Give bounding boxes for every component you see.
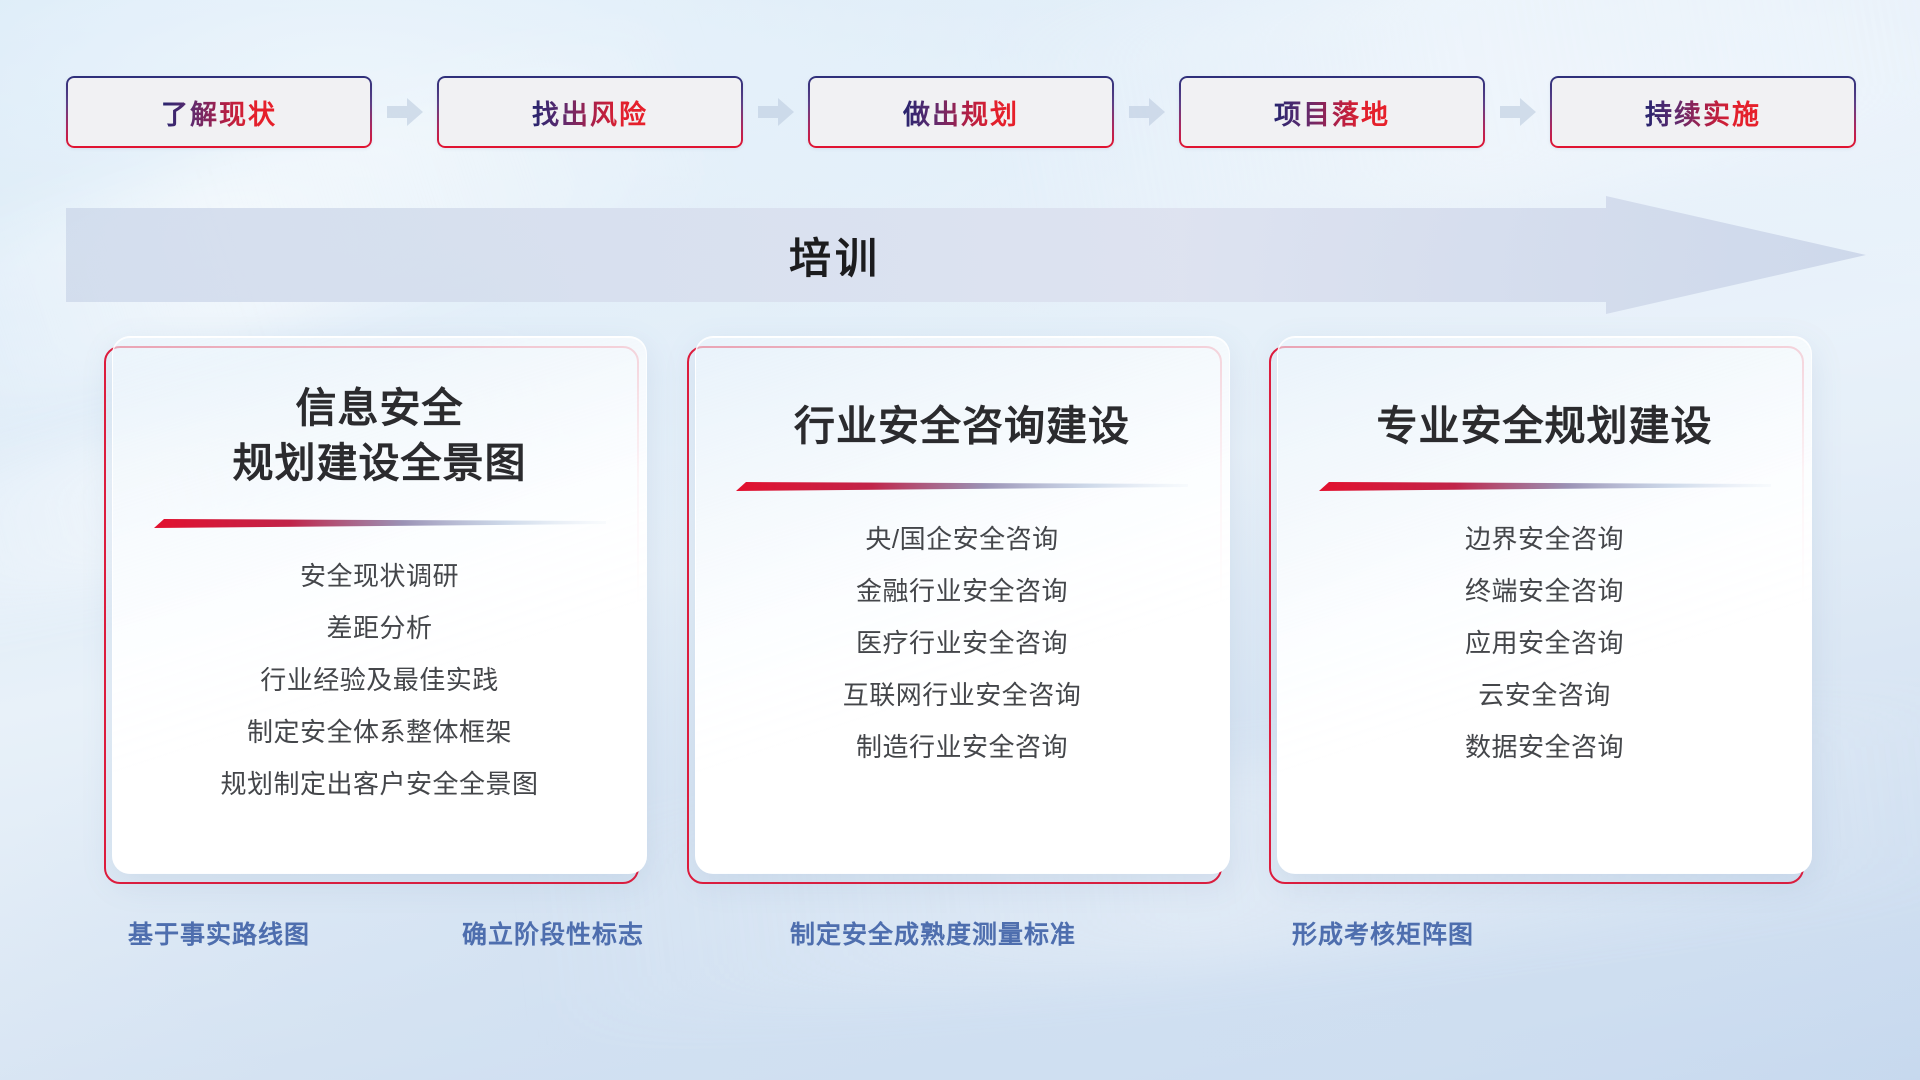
list-item: 医疗行业安全咨询 [856,618,1068,668]
list-item: 数据安全咨询 [1465,722,1624,772]
step-label: 持续实施 [1645,93,1761,132]
footer-label-3: 制定安全成熟度测量标准 [790,915,1076,951]
step-box[interactable]: 持续实施 [1550,76,1856,148]
list-item: 边界安全咨询 [1465,514,1624,564]
list-item: 安全现状调研 [300,551,459,601]
card-slot-2: 行业安全咨询建设 [695,336,1230,874]
list-item: 云安全咨询 [1478,670,1611,720]
card-item-list: 央/国企安全咨询 金融行业安全咨询 医疗行业安全咨询 互联网行业安全咨询 制造行… [696,514,1229,772]
card-item-list: 安全现状调研 差距分析 行业经验及最佳实践 制定安全体系整体框架 规划制定出客户… [113,551,646,809]
card-item-list: 边界安全咨询 终端安全咨询 应用安全咨询 云安全咨询 数据安全咨询 [1278,514,1811,772]
training-banner: 培训 [66,196,1866,314]
card-slot-3: 专业安全规划建设 [1277,336,1812,874]
arrow-right-icon [1500,97,1536,127]
card-divider [1319,480,1771,492]
card-title: 行业安全咨询建设 [794,399,1130,454]
card-divider [736,480,1188,492]
list-item: 终端安全咨询 [1465,566,1624,616]
step-box[interactable]: 了解现状 [66,76,372,148]
card-divider [154,517,606,529]
service-card-3[interactable]: 专业安全规划建设 [1277,336,1812,874]
step-label: 了解现状 [161,93,277,132]
footer-label-4: 形成考核矩阵图 [1292,915,1474,951]
process-step-2[interactable]: 找出风险 [437,76,743,148]
list-item: 规划制定出客户安全全景图 [220,759,538,809]
list-item: 应用安全咨询 [1465,618,1624,668]
footer-label-row: 基于事实路线图 确立阶段性标志 制定安全成熟度测量标准 形成考核矩阵图 [0,915,1920,961]
step-box[interactable]: 项目落地 [1179,76,1485,148]
card-title: 专业安全规划建设 [1377,399,1713,454]
footer-label-2: 确立阶段性标志 [462,915,644,951]
service-card-2[interactable]: 行业安全咨询建设 [695,336,1230,874]
card-row: 信息安全 规划建设全景图 [112,336,1812,874]
step-label: 找出风险 [532,93,648,132]
card-title: 信息安全 规划建设全景图 [233,381,527,491]
slide-stage: 了解现状 找出风险 做出规划 [0,0,1920,1080]
process-step-3[interactable]: 做出规划 [808,76,1114,148]
arrow-right-icon [758,97,794,127]
card-slot-1: 信息安全 规划建设全景图 [112,336,647,874]
list-item: 制定安全体系整体框架 [247,707,512,757]
service-card-1[interactable]: 信息安全 规划建设全景图 [112,336,647,874]
arrow-right-icon [1129,97,1165,127]
process-step-row: 了解现状 找出风险 做出规划 [66,76,1856,148]
step-box[interactable]: 做出规划 [808,76,1114,148]
process-step-4[interactable]: 项目落地 [1179,76,1485,148]
list-item: 互联网行业安全咨询 [843,670,1082,720]
footer-label-1: 基于事实路线图 [128,915,310,951]
step-box[interactable]: 找出风险 [437,76,743,148]
arrow-right-icon [387,97,423,127]
list-item: 制造行业安全咨询 [856,722,1068,772]
list-item: 金融行业安全咨询 [856,566,1068,616]
list-item: 央/国企安全咨询 [865,514,1058,564]
banner-label: 培训 [66,196,1604,314]
list-item: 行业经验及最佳实践 [260,655,499,705]
process-step-5[interactable]: 持续实施 [1550,76,1856,148]
process-step-1[interactable]: 了解现状 [66,76,372,148]
list-item: 差距分析 [326,603,432,653]
step-label: 项目落地 [1274,93,1390,132]
step-label: 做出规划 [903,93,1019,132]
